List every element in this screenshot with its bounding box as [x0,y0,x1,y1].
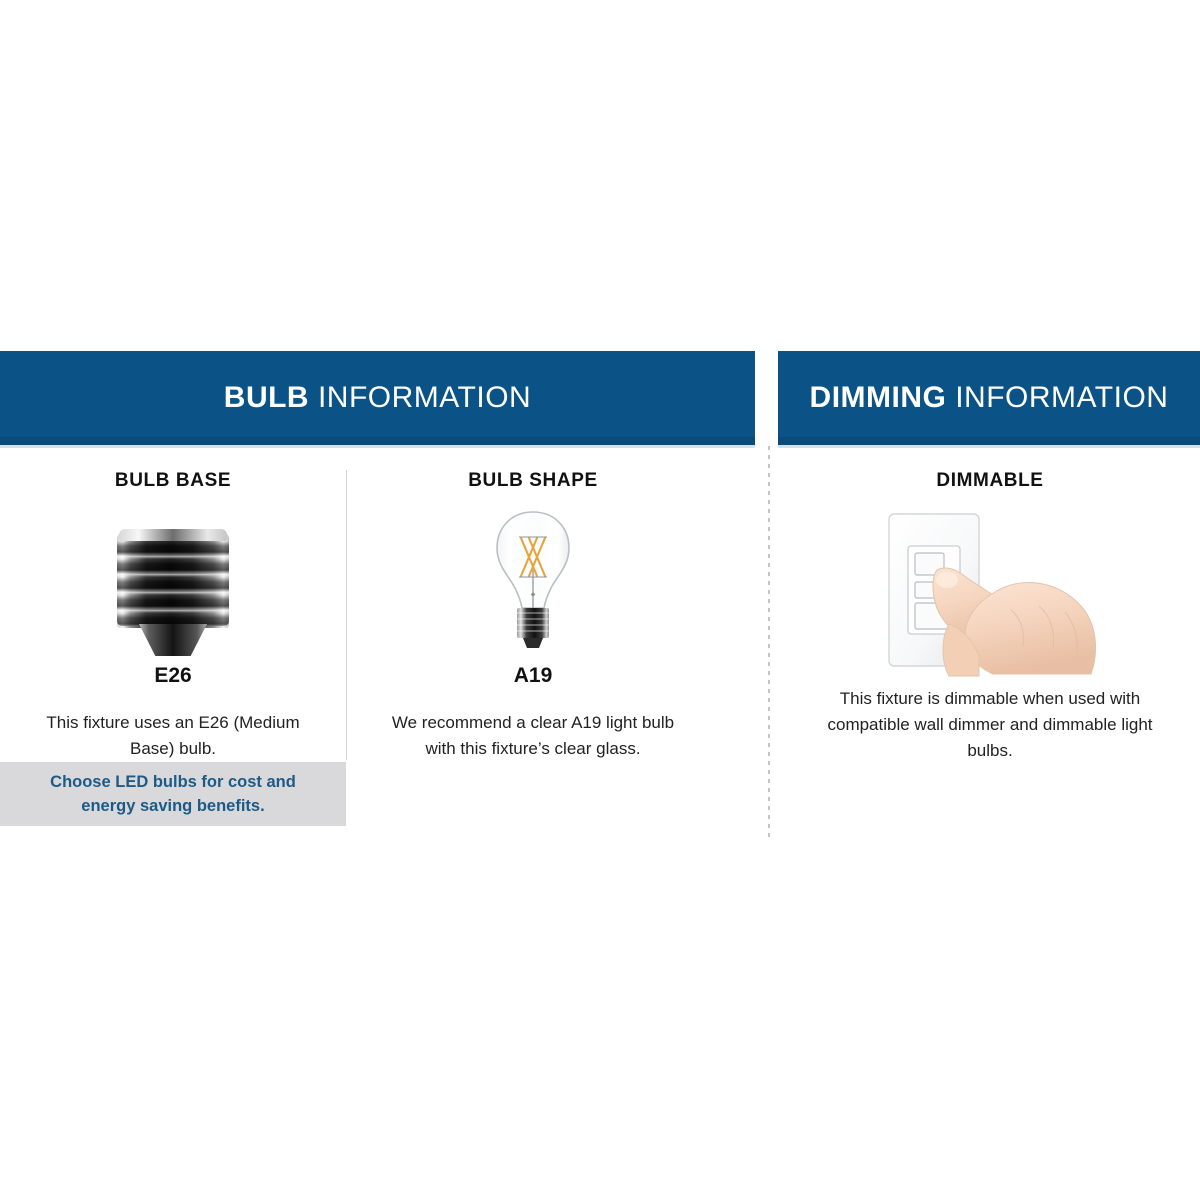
e26-tapered-neck [139,624,207,656]
hand-pressing-switch [933,568,1096,676]
bulb-base-title: BULB BASE [0,470,346,492]
column-bulb-shape: BULB SHAPE [358,470,708,762]
dimming-information-title: DIMMING INFORMATION [810,381,1169,415]
bulb-shape-value: A19 [358,664,708,688]
bulb-shape-title: BULB SHAPE [358,470,708,492]
bulb-shape-art-slot: ◆ [358,506,708,656]
bulb-band-underline [0,445,755,448]
dimming-information-title-bold: DIMMING [810,381,947,414]
panels-dotted-divider [768,446,770,838]
led-callout-text: Choose LED bulbs for cost and energy sav… [28,770,318,818]
bulb-information-title-rest: INFORMATION [309,381,531,414]
a19-printed-logo: ◆ [531,592,536,598]
dimmable-description: This fixture is dimmable when used with … [810,686,1170,764]
bulb-base-description: This fixture uses an E26 (Medium Base) b… [23,710,323,762]
bulb-information-title: BULB INFORMATION [224,381,531,415]
dimming-information-title-rest: INFORMATION [946,381,1168,414]
a19-base-tip [523,638,543,648]
led-callout-box: Choose LED bulbs for cost and energy sav… [0,762,346,826]
bulb-base-art-slot [0,506,346,656]
a19-bulb-icon: ◆ [485,508,581,656]
column-bulb-base: BULB BASE E26 This fixture uses an E26 (… [0,470,346,762]
e26-top-rim [119,529,227,541]
bulb-information-title-bold: BULB [224,381,309,414]
fingertip-highlight [936,572,958,588]
bulb-base-value: E26 [0,664,346,688]
dimmable-title: DIMMABLE [790,470,1190,492]
dimming-information-header-band: DIMMING INFORMATION [778,351,1200,445]
column-dimmable: DIMMABLE [790,470,1190,764]
bulb-shape-description: We recommend a clear A19 light bulb with… [383,710,683,762]
wall-dimmer-switch-with-hand-icon [875,506,1105,684]
bulb-information-header-band: BULB INFORMATION [0,351,755,445]
dimmable-art-slot [790,506,1190,684]
e26-threads [117,538,229,626]
e26-body [117,532,229,628]
dimming-band-underline [778,445,1200,448]
e26-screw-base-icon [117,532,229,656]
bulb-columns-divider [346,470,347,760]
